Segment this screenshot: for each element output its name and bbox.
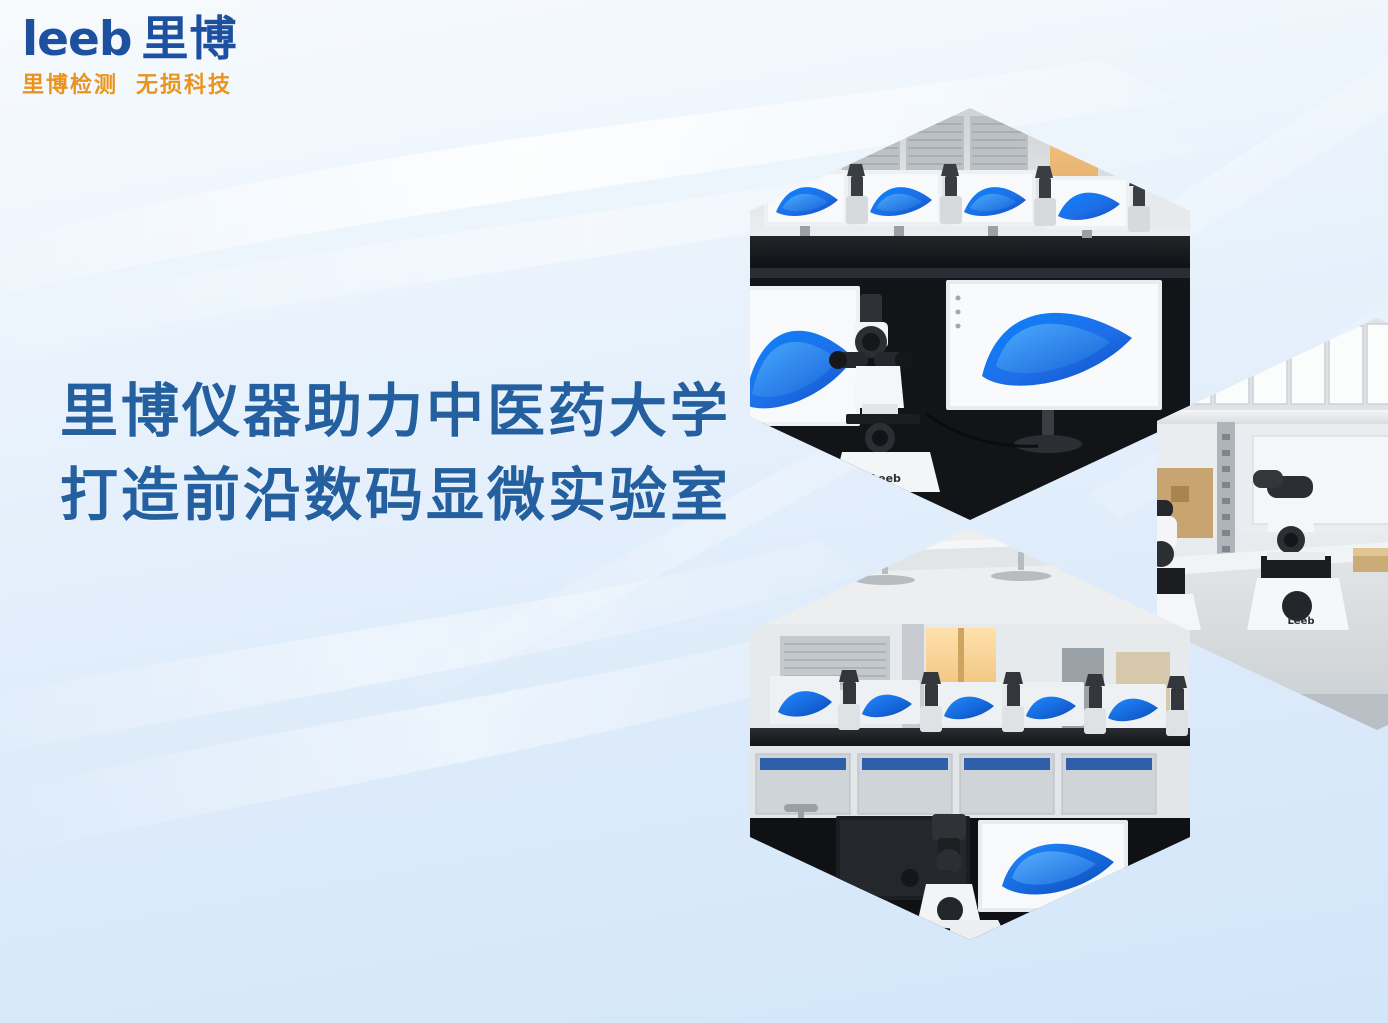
microscope-bench-image: Leeb Leeb — [1157, 318, 1388, 730]
headline-line-2: 打造前沿数码显微实验室 — [60, 454, 760, 538]
logo-tagline: 里博检测无损科技 — [22, 67, 302, 99]
logo-latin-text: leeb — [22, 12, 132, 67]
promo-banner: leeb里博 里博检测无损科技 里博仪器助力中医药大学 打造前沿数码显微实验室 — [0, 0, 1388, 1023]
classroom-rows-image — [750, 528, 1190, 940]
photo-hex-classroom-rows — [750, 528, 1190, 940]
photo-hex-microscope-bench: Leeb Leeb — [1157, 318, 1388, 730]
lab-overview-image: Leeb — [750, 108, 1190, 520]
photo-hex-lab-overview: Leeb — [750, 108, 1190, 520]
svg-text:Leeb: Leeb — [1287, 616, 1314, 627]
hexagon-photo-cluster: Leeb — [700, 0, 1388, 1023]
tagline-left-text: 里博检测 — [22, 72, 118, 97]
logo-wordmark: leeb里博 — [22, 14, 302, 64]
logo-chinese-text: 里博 — [142, 12, 238, 65]
svg-text:Leeb: Leeb — [871, 472, 901, 485]
headline-block: 里博仪器助力中医药大学 打造前沿数码显微实验室 — [60, 370, 760, 538]
headline-line-1: 里博仪器助力中医药大学 — [60, 370, 760, 454]
brand-logo: leeb里博 里博检测无损科技 — [22, 14, 302, 99]
tagline-right-text: 无损科技 — [136, 72, 232, 97]
